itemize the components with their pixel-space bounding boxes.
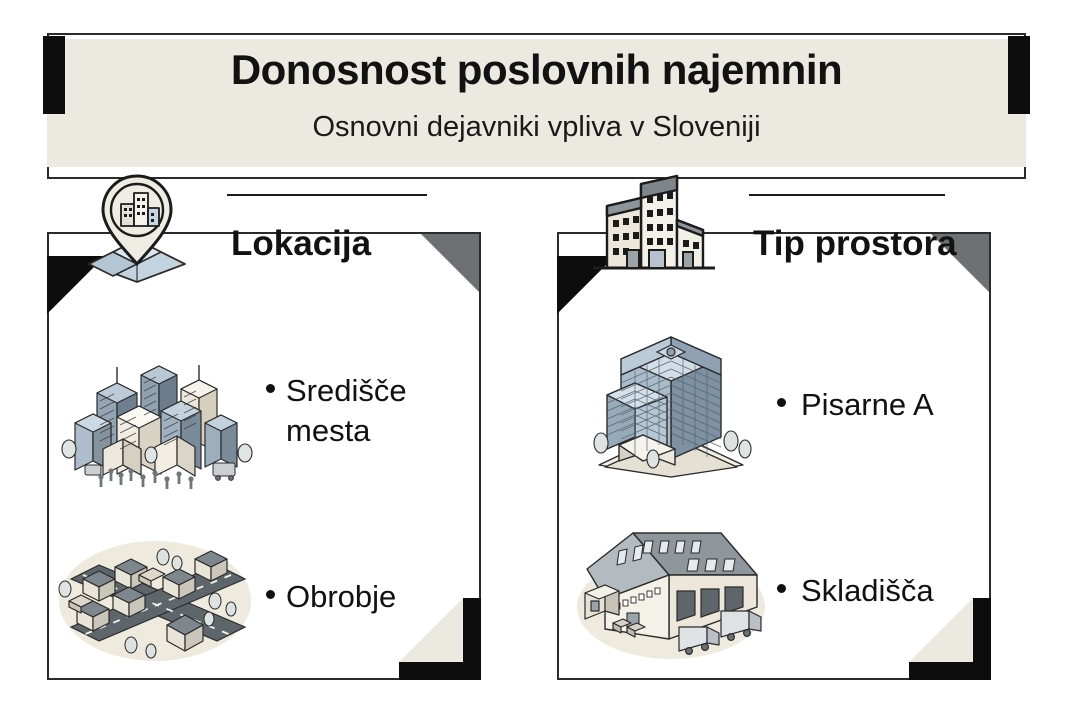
card-location-header: Lokacija bbox=[49, 196, 479, 316]
bullet-icon bbox=[777, 398, 786, 407]
city-skyline-illustration bbox=[55, 331, 260, 491]
office-tower-illustration bbox=[571, 325, 771, 485]
list-item[interactable]: Središče mesta bbox=[49, 326, 479, 496]
card-space-type-header: Tip prostora bbox=[559, 196, 989, 316]
card-location-title: Lokacija bbox=[231, 224, 371, 264]
card-space-type-title: Tip prostora bbox=[753, 224, 957, 264]
list-item-label: Središče mesta bbox=[260, 371, 479, 450]
list-item-label: Obrobje bbox=[260, 577, 479, 617]
suburb-crossroads-illustration bbox=[55, 517, 260, 677]
page-title: Donosnost poslovnih najemnin bbox=[47, 48, 1026, 92]
card-space-type[interactable]: Tip prostora bbox=[557, 232, 991, 680]
warehouse-illustration bbox=[571, 511, 771, 671]
list-item[interactable]: Pisarne A bbox=[559, 320, 989, 490]
card-space-type-rule bbox=[749, 194, 945, 196]
list-item-label: Skladišča bbox=[771, 571, 989, 611]
list-item[interactable]: Obrobje bbox=[49, 512, 479, 682]
card-location[interactable]: Lokacija bbox=[47, 232, 481, 680]
bullet-icon bbox=[266, 384, 275, 393]
card-location-rule bbox=[227, 194, 427, 196]
bullet-icon bbox=[266, 590, 275, 599]
page-subtitle: Osnovni dejavniki vpliva v Sloveniji bbox=[47, 112, 1026, 144]
list-item-label: Pisarne A bbox=[771, 385, 989, 425]
list-item[interactable]: Skladišča bbox=[559, 506, 989, 676]
map-pin-buildings-icon bbox=[77, 168, 197, 288]
building-complex-icon bbox=[589, 164, 709, 284]
bullet-icon bbox=[777, 584, 786, 593]
